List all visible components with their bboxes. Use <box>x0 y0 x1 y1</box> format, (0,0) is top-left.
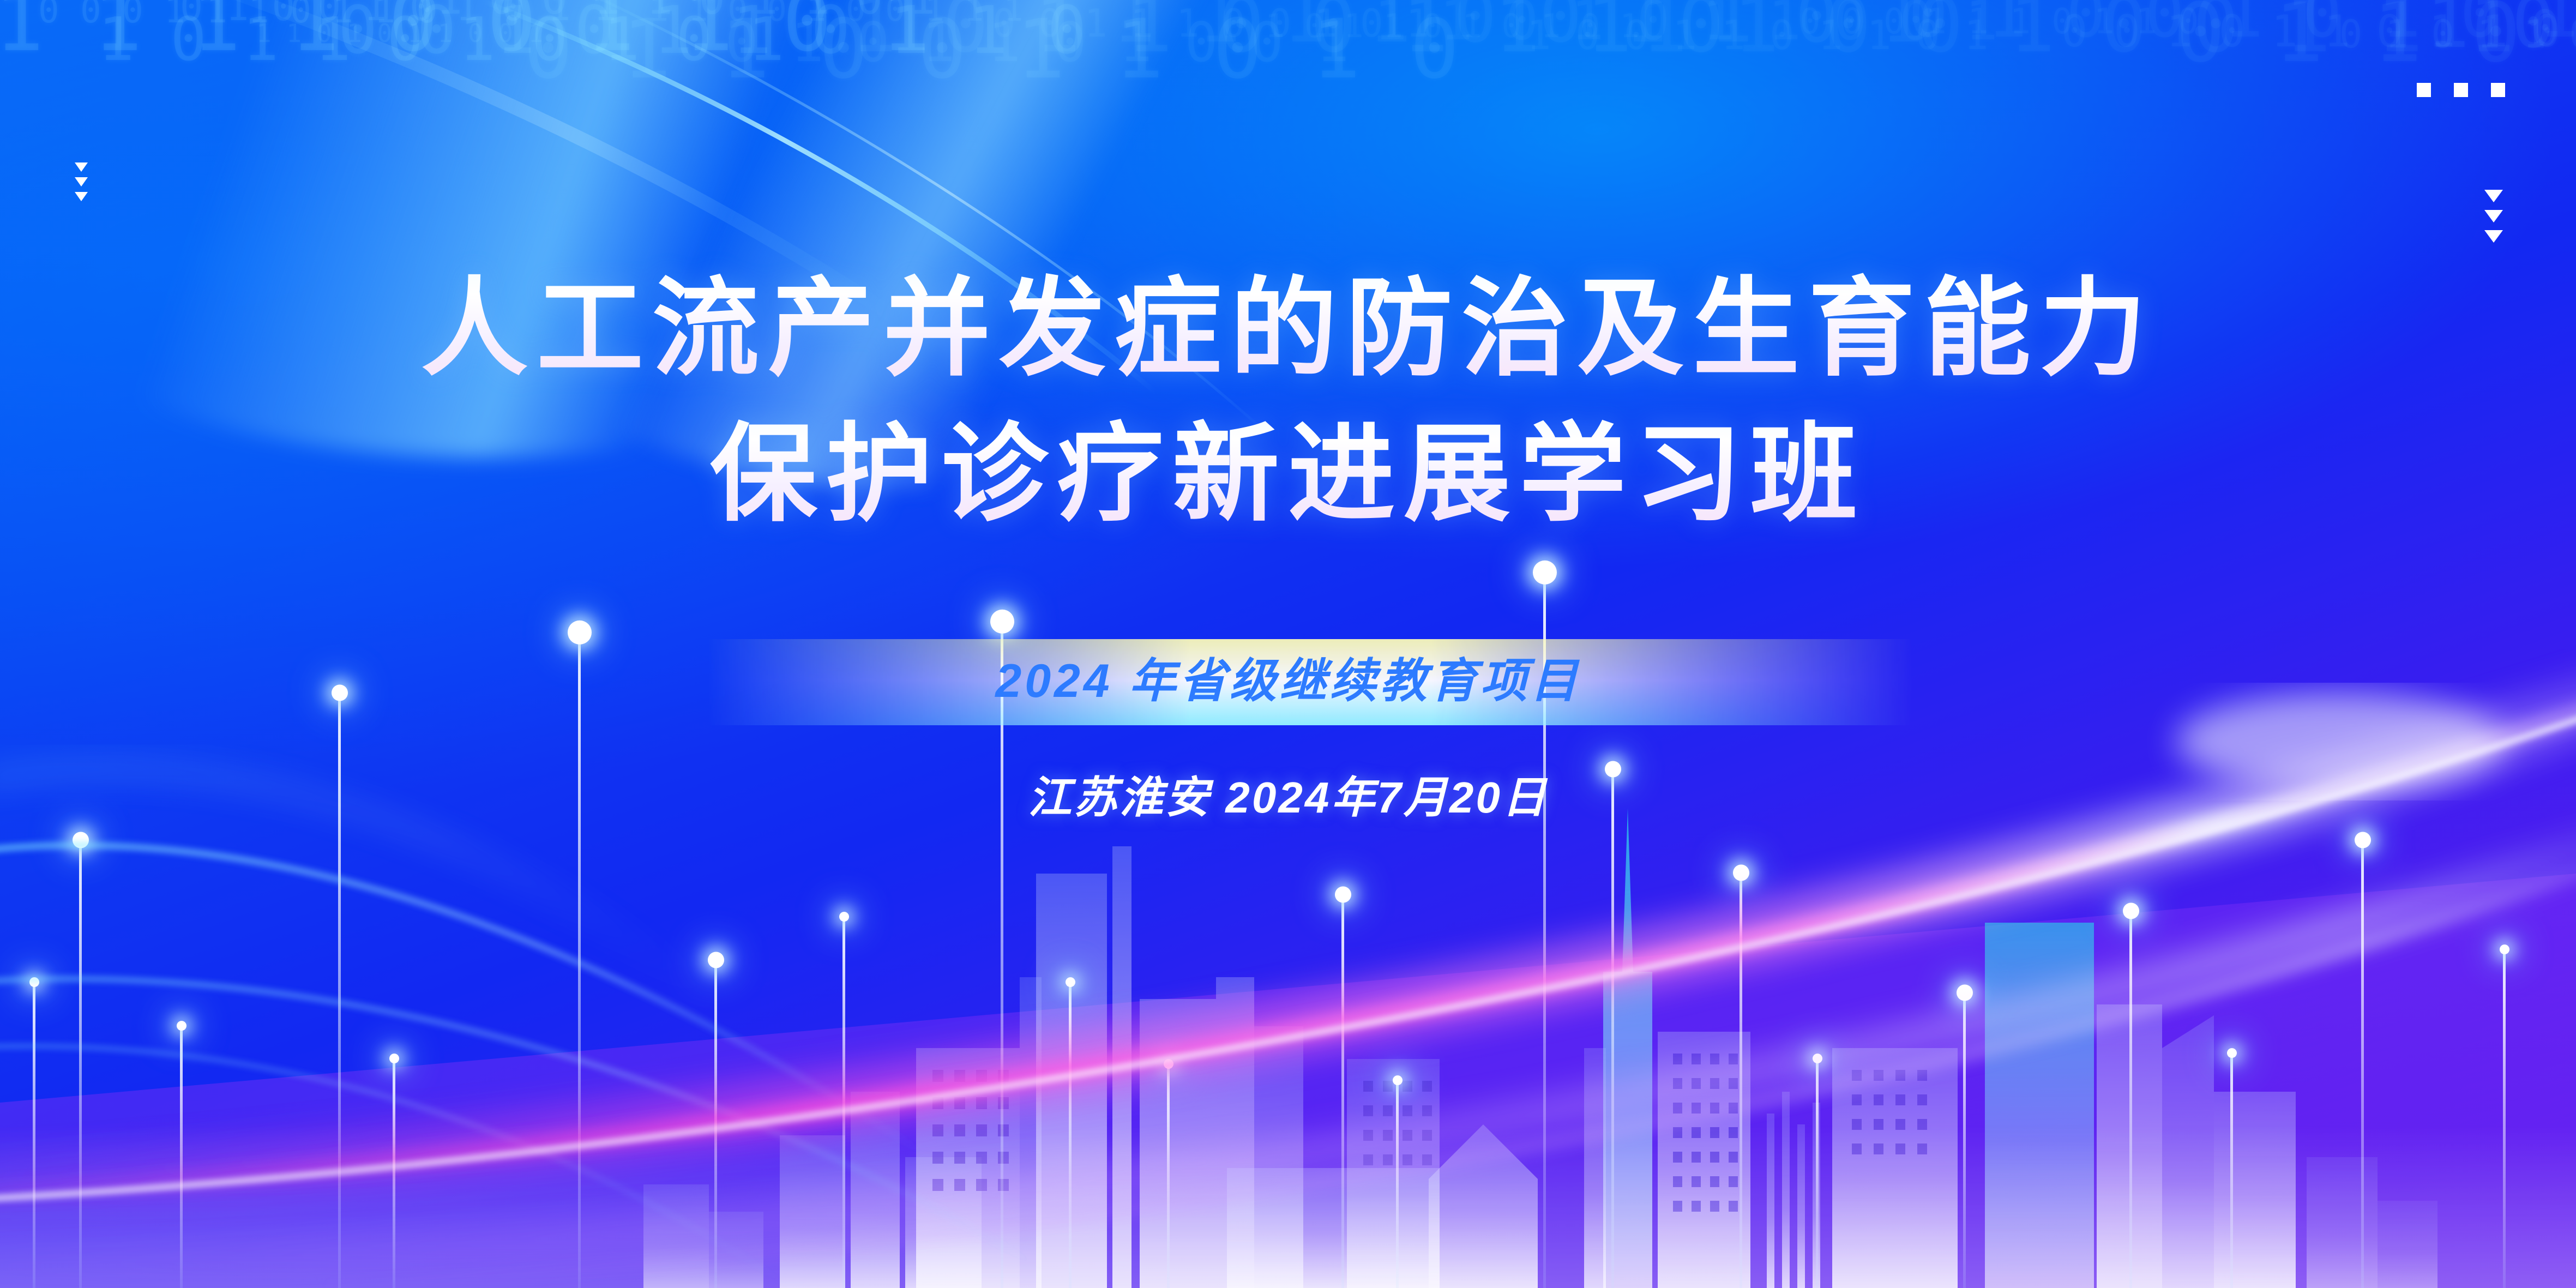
triangle-down-icon <box>75 192 88 201</box>
triangle-down-icon <box>75 162 88 172</box>
left-triangles <box>75 162 88 201</box>
square-dot-icon <box>2417 83 2431 97</box>
triangle-down-icon <box>2484 230 2503 243</box>
title-line-1: 人工流产并发症的防治及生育能力 <box>0 256 2576 402</box>
venue-date-text: 江苏淮安 2024年7月20日 <box>0 762 2576 826</box>
square-dot-icon <box>2491 83 2505 97</box>
triangle-down-icon <box>2484 210 2503 222</box>
triangle-down-icon <box>75 177 88 186</box>
title-line-2: 保护诊疗新进展学习班 <box>0 402 2576 547</box>
poster-canvas: 1 1 1 1 0 0 1 1 0 1 0 0 0 1 1 1 0 1 1 0 … <box>0 0 2576 1288</box>
subtitle-text: 2024 年省级继续教育项目 <box>0 642 2576 711</box>
triangle-down-icon <box>2484 190 2503 202</box>
poster-title: 人工流产并发症的防治及生育能力 保护诊疗新进展学习班 <box>0 256 2576 547</box>
square-dot-icon <box>2454 83 2468 97</box>
corner-triangles <box>2484 190 2503 243</box>
corner-squares <box>2417 83 2505 97</box>
